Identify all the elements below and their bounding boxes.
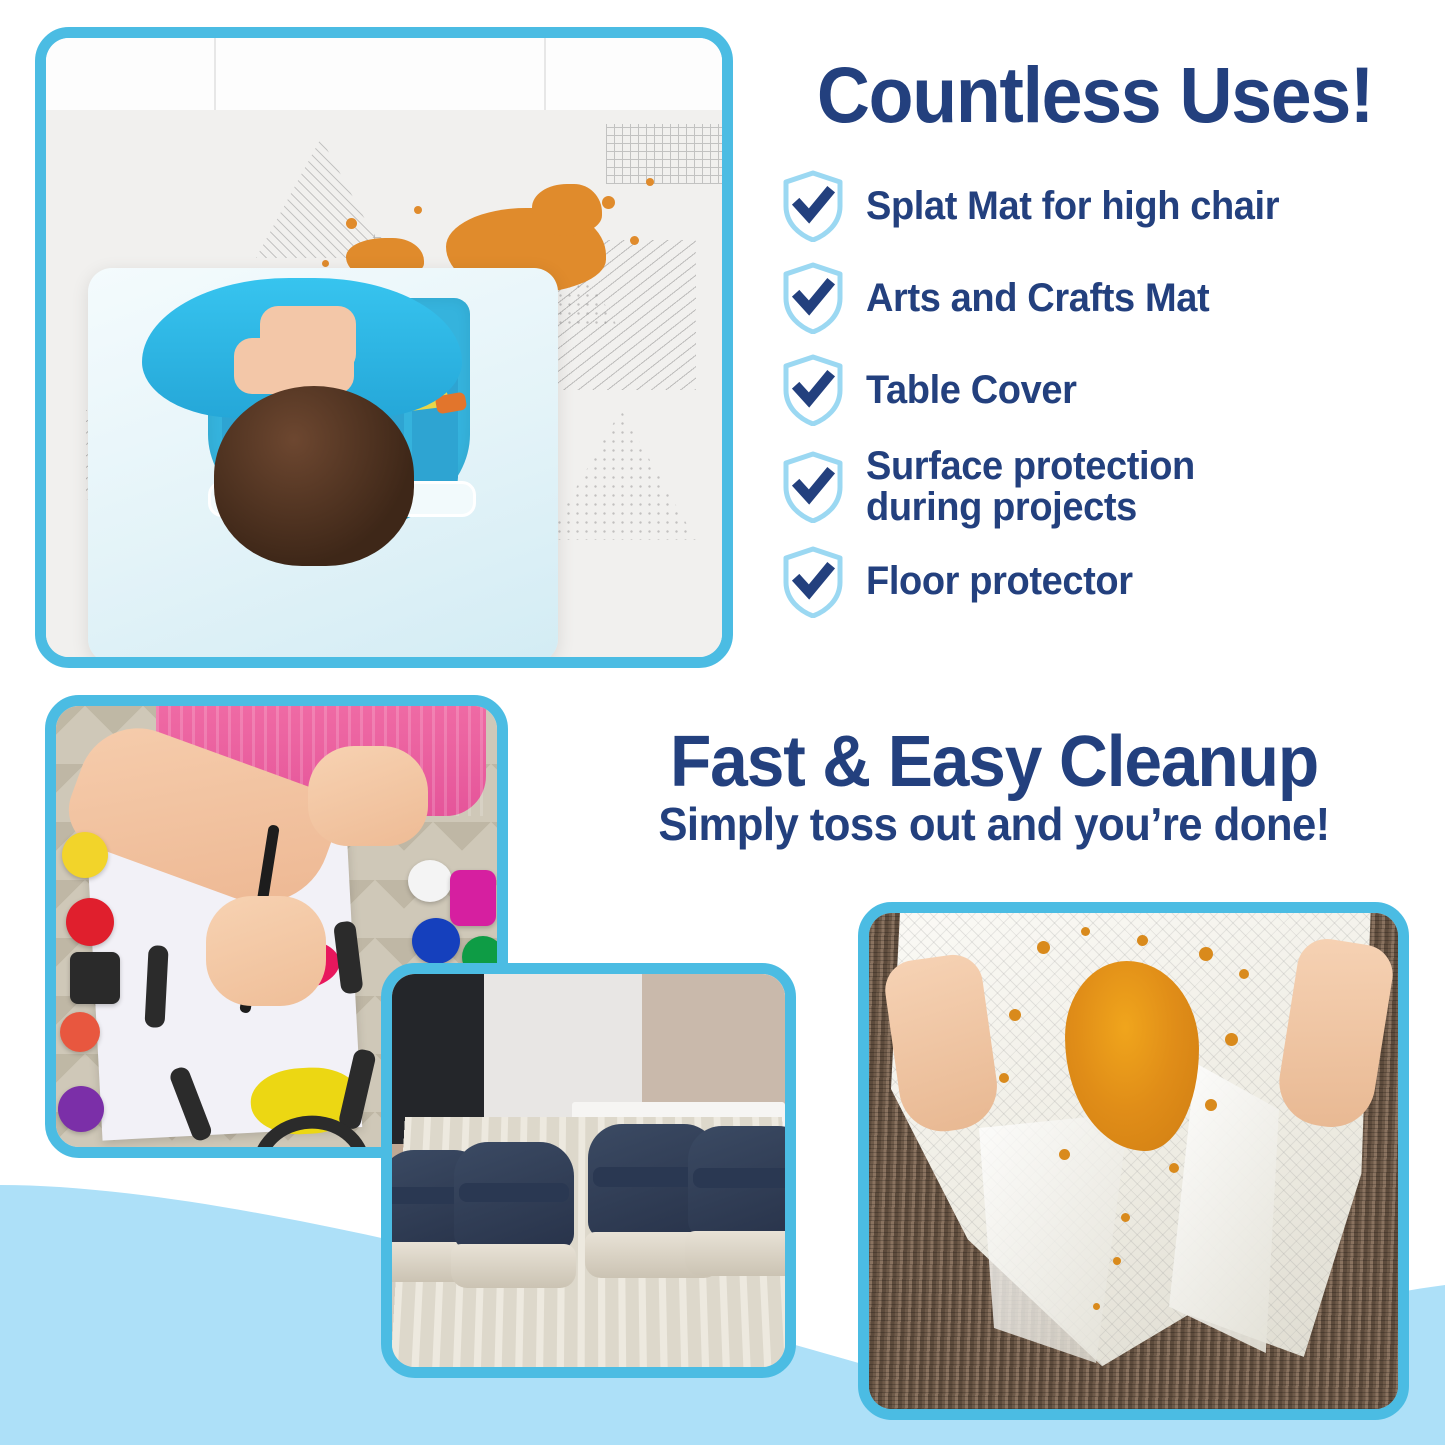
child-head bbox=[214, 386, 414, 566]
list-item-label: Table Cover bbox=[866, 370, 1077, 411]
uses-list: Splat Mat for high chair Arts and Crafts… bbox=[782, 170, 1442, 638]
list-item-label: Arts and Crafts Mat bbox=[866, 278, 1209, 319]
paint-pot bbox=[70, 952, 120, 1004]
list-item-label: Floor protector bbox=[866, 561, 1133, 602]
cleanup-heading-block: Fast & Easy Cleanup Simply toss out and … bbox=[545, 728, 1443, 849]
shield-check-icon bbox=[782, 170, 844, 242]
paint-pot bbox=[62, 832, 108, 878]
list-item: Arts and Crafts Mat bbox=[782, 262, 1442, 334]
list-item-label: Splat Mat for high chair bbox=[866, 186, 1279, 227]
paint-pot bbox=[60, 1012, 100, 1052]
photo-shoes bbox=[381, 963, 796, 1378]
child-hand-holding-brush bbox=[206, 896, 326, 1006]
shield-check-icon bbox=[782, 262, 844, 334]
shield-check-icon bbox=[782, 354, 844, 426]
list-item: Surface protection during projects bbox=[782, 446, 1442, 528]
paint-pot bbox=[412, 918, 460, 964]
paint-pot bbox=[450, 870, 496, 926]
child-hand-right bbox=[308, 746, 428, 846]
photo-highchair bbox=[35, 27, 733, 668]
cleanup-subtitle: Simply toss out and you’re done! bbox=[567, 801, 1420, 849]
paint-pot bbox=[408, 860, 452, 902]
page-title: Countless Uses! bbox=[779, 58, 1411, 132]
cleanup-title: Fast & Easy Cleanup bbox=[572, 728, 1416, 797]
child-hands bbox=[234, 338, 354, 394]
list-item-label: Surface protection during projects bbox=[866, 446, 1313, 528]
list-item: Floor protector bbox=[782, 546, 1442, 618]
shoe bbox=[454, 1142, 574, 1288]
shield-check-icon bbox=[782, 451, 844, 523]
paint-pot bbox=[58, 1086, 104, 1132]
paint-pot bbox=[66, 898, 114, 946]
list-item: Table Cover bbox=[782, 354, 1442, 426]
shield-check-icon bbox=[782, 546, 844, 618]
list-item: Splat Mat for high chair bbox=[782, 170, 1442, 242]
photo-cleanup bbox=[858, 902, 1409, 1420]
shoe bbox=[688, 1126, 785, 1276]
